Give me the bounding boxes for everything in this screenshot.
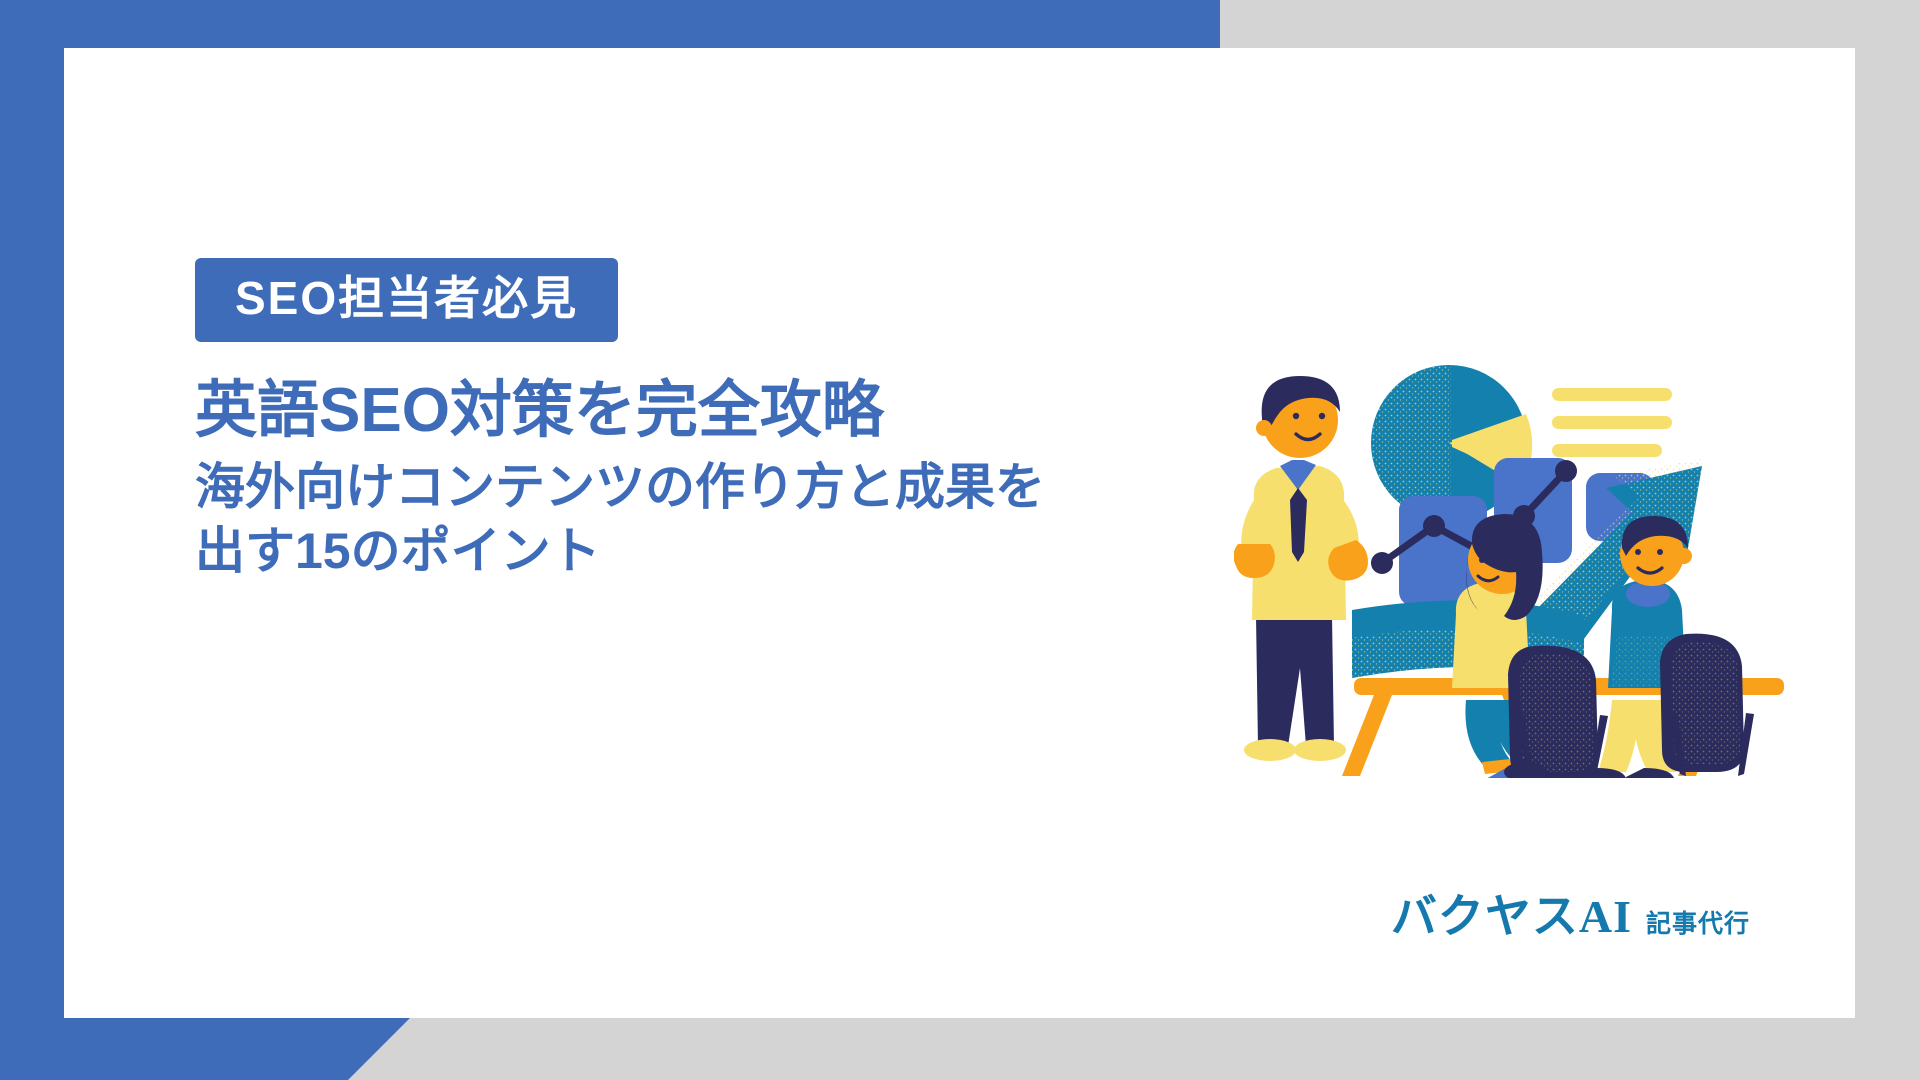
hero-illustration [1234, 348, 1794, 778]
brand-logo-sub: 記事代行 [1646, 904, 1750, 940]
page-title: 英語SEO対策を完全攻略 [195, 376, 1095, 445]
accent-bar-left [0, 0, 64, 1080]
eyebrow-badge: SEO担当者必見 [195, 258, 618, 342]
page-subtitle: 海外向けコンテンツの作り方と成果を出す15のポイント [195, 455, 1050, 583]
brand-logo: バクヤスAI 記事代行 [1391, 880, 1750, 946]
brand-logo-main: バクヤスAI [1391, 880, 1632, 946]
standing-presenter-figure [1234, 376, 1368, 761]
accent-bar-bottom [0, 1018, 410, 1080]
chair-right [1660, 634, 1754, 776]
banner-content: SEO担当者必見 英語SEO対策を完全攻略 海外向けコンテンツの作り方と成果を出… [195, 258, 1095, 583]
accent-bar-top [0, 0, 1220, 48]
banner-card: SEO担当者必見 英語SEO対策を完全攻略 海外向けコンテンツの作り方と成果を出… [64, 48, 1855, 1018]
chair-left [1504, 646, 1608, 778]
text-lines-icon [1552, 388, 1672, 457]
